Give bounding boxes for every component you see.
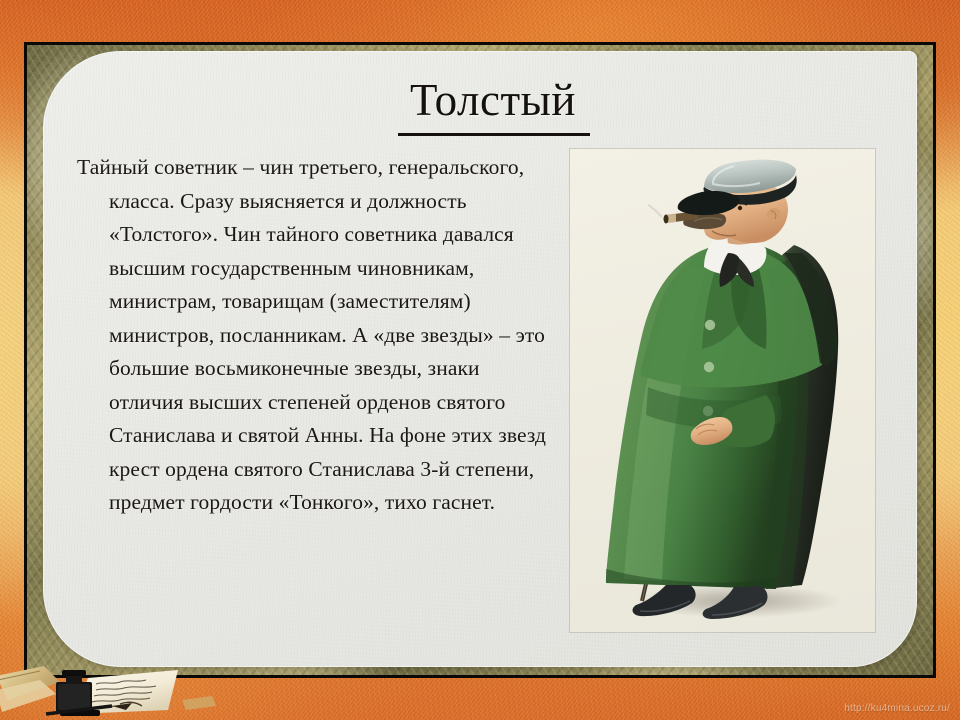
illustration-figure — [570, 149, 875, 632]
body-paragraph: Тайный советник – чин третьего, генераль… — [77, 151, 557, 520]
fat-official-caricature-icon — [570, 149, 875, 632]
title-underline — [398, 133, 590, 136]
presentation-slide: Толстый Тайный советник – чин третьего, … — [0, 0, 960, 720]
inkwell-manuscript-decoration — [0, 656, 226, 720]
frame-keyline: Толстый Тайный советник – чин третьего, … — [24, 42, 936, 678]
content-panel: Толстый Тайный советник – чин третьего, … — [43, 51, 917, 667]
source-watermark: http://ku4mina.ucoz.ru/ — [844, 703, 950, 714]
page-title: Толстый — [343, 77, 643, 124]
